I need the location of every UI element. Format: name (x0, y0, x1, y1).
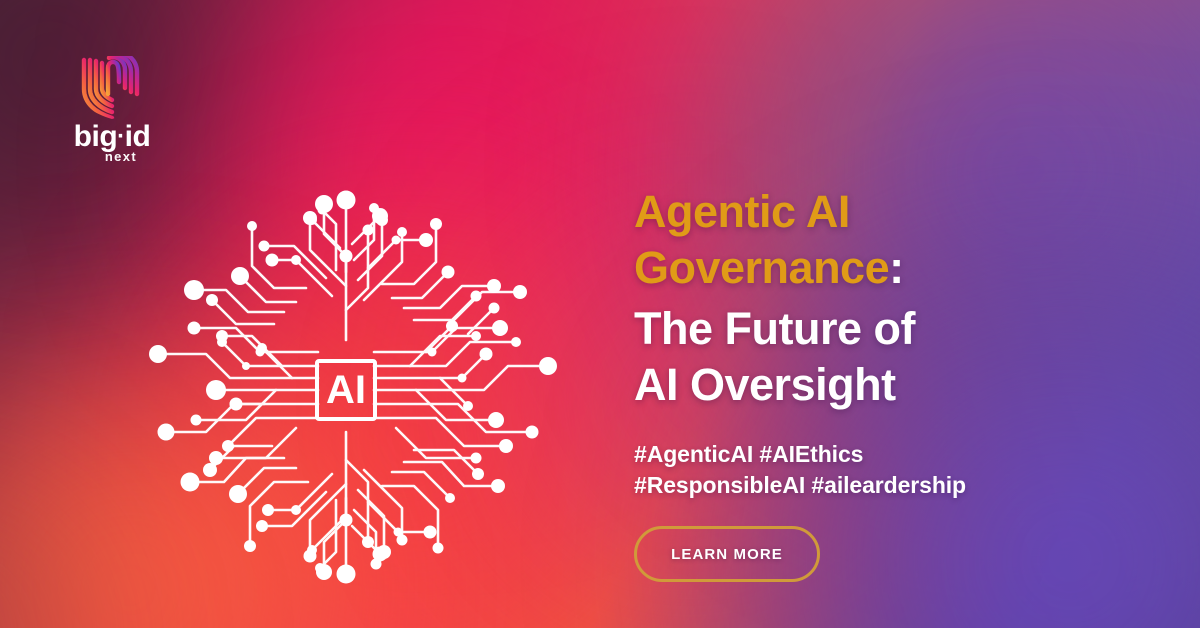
page-title: Agentic AI Governance: The Future of AI … (634, 184, 1104, 413)
headline-line-1: Agentic AI (634, 184, 1104, 240)
hashtags-line-1: #AgenticAI #AIEthics (634, 439, 1104, 470)
logo-wordmark: big·id (52, 122, 172, 152)
headline-line-1-text: Agentic AI (634, 186, 850, 237)
bigid-next-logo[interactable]: big·id next (52, 52, 172, 163)
ai-chip-label: AI (326, 368, 366, 412)
ai-circuit-brain-graphic: AI (96, 160, 596, 590)
headline-line-3-text: The Future of (634, 303, 915, 354)
ai-chip: AI (317, 361, 375, 419)
learn-more-button[interactable]: LEARN MORE (634, 526, 820, 582)
headline-line-2: Governance: (634, 240, 1104, 296)
copy-block: Agentic AI Governance: The Future of AI … (634, 184, 1104, 582)
headline-line-4-text: AI Oversight (634, 359, 896, 410)
hashtag-block: #AgenticAI #AIEthics #ResponsibleAI #ail… (634, 439, 1104, 500)
fingerprint-shield-icon (75, 52, 149, 120)
headline-line-2-text: Governance (634, 242, 889, 293)
hashtags-line-2: #ResponsibleAI #aileardership (634, 470, 1104, 501)
headline-line-4: AI Oversight (634, 357, 1104, 413)
headline-colon: : (889, 242, 904, 293)
circuit-svg: AI (96, 160, 596, 590)
logo-wordmark-dot: · (117, 123, 125, 150)
headline-line-3: The Future of (634, 301, 1104, 357)
promo-banner: big·id next (0, 0, 1200, 628)
